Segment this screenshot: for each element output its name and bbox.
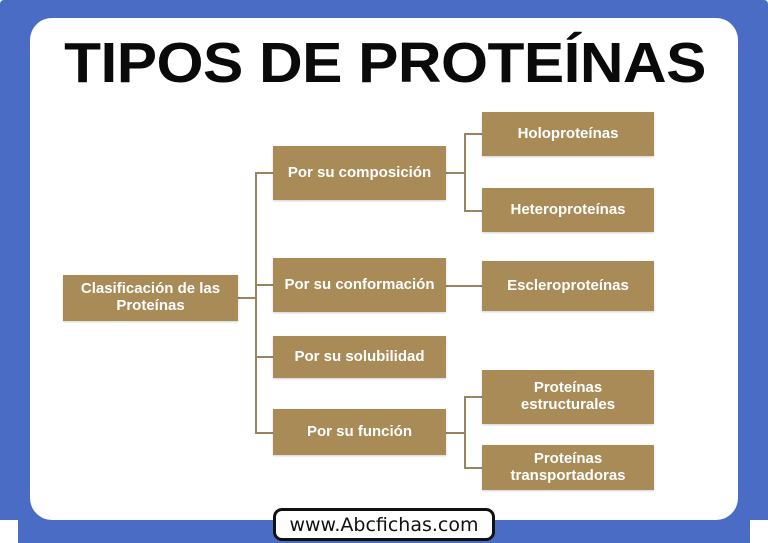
connector-to-escleroproteinas: [446, 285, 483, 287]
protein-classification-diagram: Clasificación de las Proteínas Por su co…: [0, 0, 768, 543]
node-proteinas-estructurales[interactable]: Proteínas estructurales: [482, 370, 654, 424]
node-holoproteinas[interactable]: Holoproteínas: [482, 112, 654, 156]
connector-to-estructurales: [464, 396, 483, 398]
poster-frame: TIPOS DE PROTEÍNAS Clasificación de las …: [0, 0, 768, 543]
node-heteroproteinas[interactable]: Heteroproteínas: [482, 188, 654, 232]
node-por-su-composicion[interactable]: Por su composición: [273, 146, 446, 200]
node-por-su-conformacion[interactable]: Por su conformación: [273, 258, 446, 312]
node-escleroproteinas[interactable]: Escleroproteínas: [482, 261, 654, 311]
connector-trunk-funcion: [464, 396, 466, 469]
connector-composicion-stub: [446, 172, 466, 174]
connector-to-transportadoras: [464, 467, 483, 469]
node-proteinas-transportadoras[interactable]: Proteínas transportadoras: [482, 445, 654, 490]
connector-to-funcion: [255, 432, 274, 434]
connector-to-solubilidad: [255, 356, 274, 358]
node-clasificacion-de-las-proteinas[interactable]: Clasificación de las Proteínas: [63, 275, 238, 321]
node-por-su-funcion[interactable]: Por su función: [273, 409, 446, 455]
website-url: www.Abcfichas.com: [289, 514, 478, 536]
website-badge[interactable]: www.Abcfichas.com: [273, 508, 495, 541]
connector-to-conformacion: [255, 284, 274, 286]
connector-funcion-stub: [446, 432, 466, 434]
connector-trunk-main: [255, 172, 257, 433]
connector-to-holoproteinas: [464, 133, 483, 135]
connector-to-heteroproteinas: [464, 210, 483, 212]
node-por-su-solubilidad[interactable]: Por su solubilidad: [273, 336, 446, 378]
connector-to-composicion: [255, 172, 274, 174]
connector-trunk-composicion: [464, 133, 466, 212]
